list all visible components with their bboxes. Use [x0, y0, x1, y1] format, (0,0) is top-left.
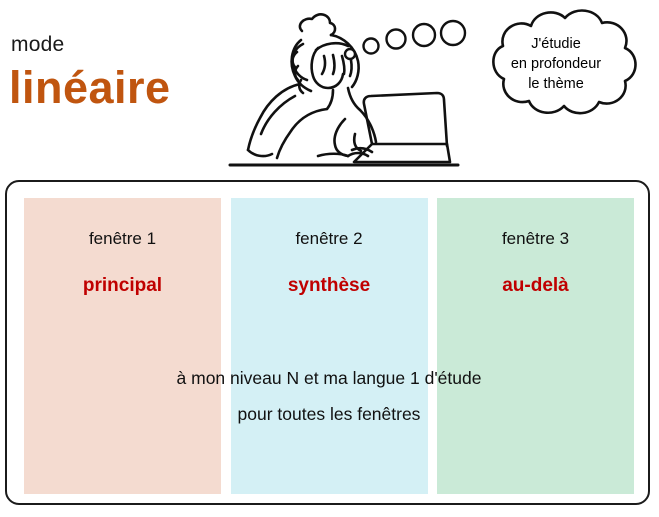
cloud-line-1: J'étudie [470, 34, 642, 54]
mode-label: mode [11, 33, 64, 57]
window-column-3-name: au-delà [437, 274, 634, 298]
thought-bubble-dots-icon [338, 18, 468, 68]
window-column-2[interactable]: fenêtre 2 synthèse [231, 198, 428, 494]
window-column-1-name: principal [24, 274, 221, 298]
header-area: mode linéaire [0, 0, 659, 178]
cloud-line-3: le thème [470, 74, 642, 94]
cloud-line-2: en profondeur [470, 54, 642, 74]
window-column-2-name: synthèse [231, 274, 428, 298]
window-column-1-label: fenêtre 1 [24, 228, 221, 250]
window-column-3[interactable]: fenêtre 3 au-delà [437, 198, 634, 494]
window-column-1[interactable]: fenêtre 1 principal [24, 198, 221, 494]
page-title: linéaire [9, 62, 171, 114]
windows-panel: fenêtre 1 principal fenêtre 2 synthèse f… [5, 180, 650, 505]
columns-row: fenêtre 1 principal fenêtre 2 synthèse f… [24, 198, 634, 494]
window-column-3-label: fenêtre 3 [437, 228, 634, 250]
thought-cloud-text: J'étudie en profondeur le thème [470, 34, 642, 94]
window-column-2-label: fenêtre 2 [231, 228, 428, 250]
